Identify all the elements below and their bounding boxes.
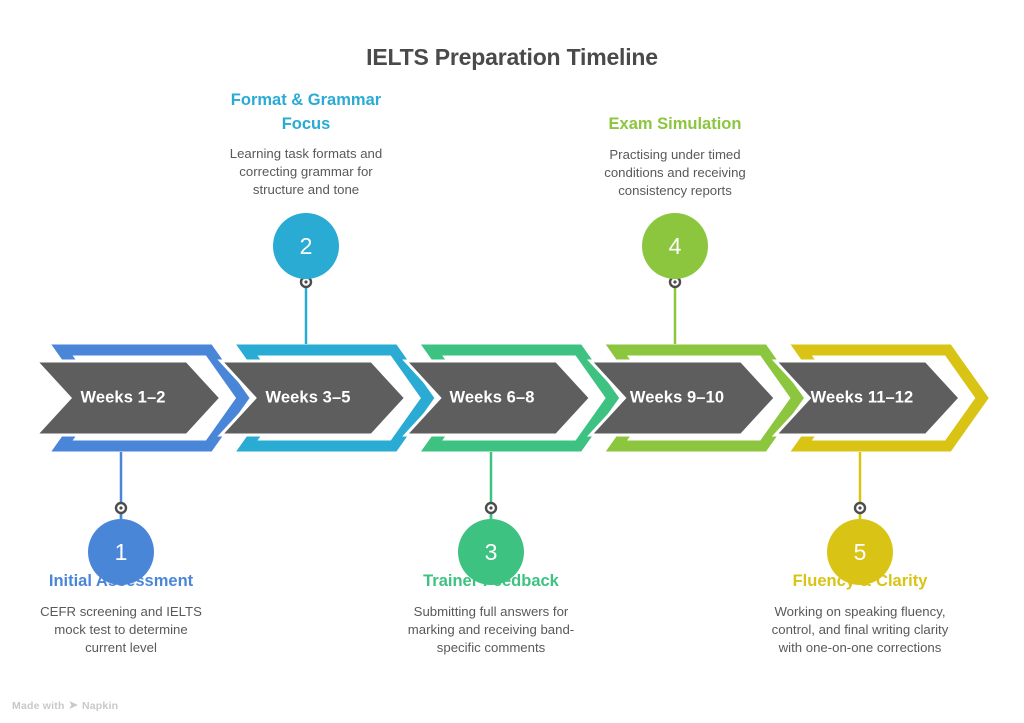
milestone-text-5: Fluency & ClarityWorking on speaking flu… xyxy=(771,570,949,656)
week-label-3: Weeks 6–8 xyxy=(450,389,535,408)
milestone-title-2: Format & Grammar Focus xyxy=(217,89,395,136)
connector-marker-dot-2 xyxy=(304,280,307,283)
milestone-number-2: 2 xyxy=(300,235,313,258)
milestone-title-4: Exam Simulation xyxy=(586,113,764,137)
milestone-circle-4[interactable]: 4 xyxy=(642,213,708,279)
footer-brand: Napkin xyxy=(82,700,118,712)
connector-marker-dot-1 xyxy=(119,506,122,509)
footer-prefix: Made with xyxy=(12,700,65,712)
week-label-4: Weeks 9–10 xyxy=(630,389,724,408)
milestone-text-4: Exam SimulationPractising under timed co… xyxy=(586,113,764,199)
milestone-title-3: Trainer Feedback xyxy=(402,570,580,594)
milestone-description-5: Working on speaking fluency, control, an… xyxy=(771,603,949,657)
connector-marker-dot-3 xyxy=(489,506,492,509)
milestone-text-2: Format & Grammar FocusLearning task form… xyxy=(217,89,395,199)
milestone-description-2: Learning task formats and correcting gra… xyxy=(217,145,395,199)
milestone-circle-2[interactable]: 2 xyxy=(273,213,339,279)
milestone-text-3: Trainer FeedbackSubmitting full answers … xyxy=(402,570,580,656)
milestone-description-1: CEFR screening and IELTS mock test to de… xyxy=(32,603,210,657)
napkin-branding: Made with ➤ Napkin xyxy=(12,700,118,712)
milestone-description-3: Submitting full answers for marking and … xyxy=(402,603,580,657)
milestone-text-1: Initial AssessmentCEFR screening and IEL… xyxy=(32,570,210,656)
week-label-2: Weeks 3–5 xyxy=(266,389,351,408)
week-label-1: Weeks 1–2 xyxy=(81,389,166,408)
milestone-title-5: Fluency & Clarity xyxy=(771,570,949,594)
milestone-title-1: Initial Assessment xyxy=(32,570,210,594)
timeline-diagram: 12345 Initial AssessmentCEFR screening a… xyxy=(0,0,1024,723)
milestone-number-4: 4 xyxy=(669,235,682,258)
milestone-description-4: Practising under timed conditions and re… xyxy=(586,146,764,200)
connector-marker-dot-4 xyxy=(673,280,676,283)
milestone-number-5: 5 xyxy=(854,541,867,564)
week-label-5: Weeks 11–12 xyxy=(811,389,914,408)
milestone-number-3: 3 xyxy=(485,541,498,564)
milestone-number-1: 1 xyxy=(115,541,128,564)
connector-marker-dot-5 xyxy=(858,506,861,509)
napkin-logo-icon: ➤ xyxy=(69,700,78,711)
